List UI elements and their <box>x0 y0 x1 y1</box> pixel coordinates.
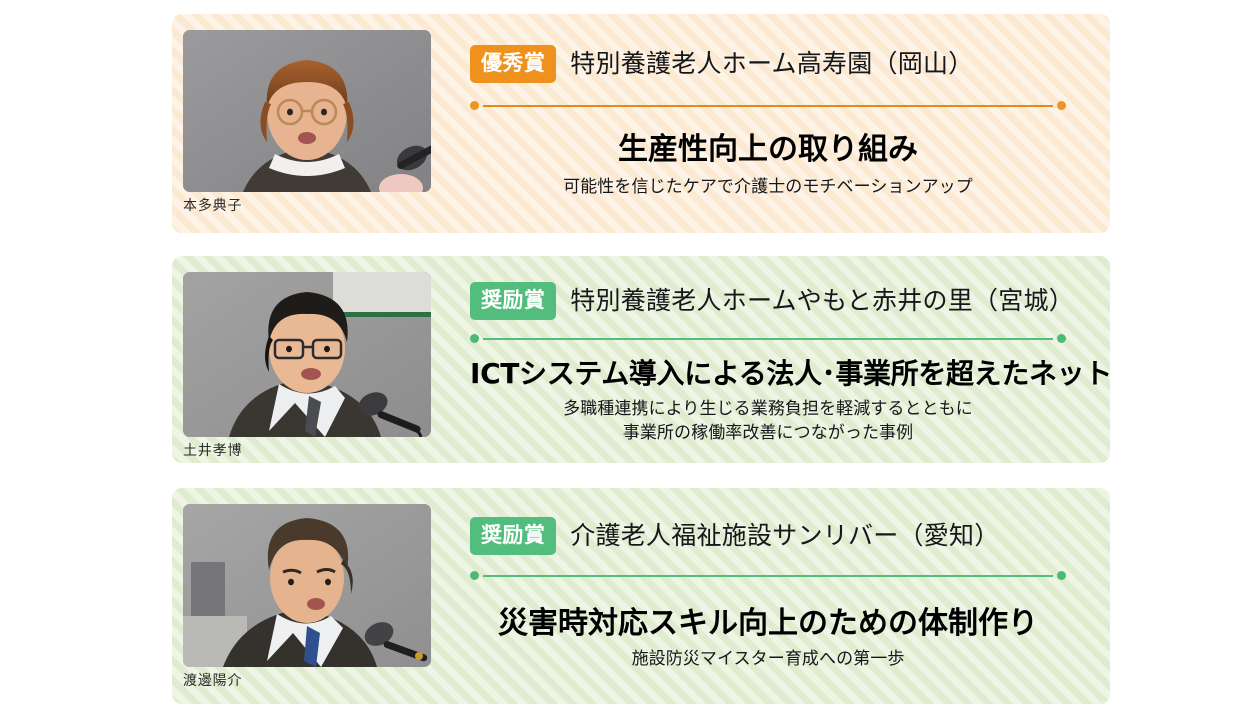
section-divider <box>470 101 1066 110</box>
project-title: ICTシステム導入による法人･事業所を超えたネットワークの構築 <box>470 357 1066 391</box>
award-card[interactable]: 渡邊陽介 奨励賞 介護老人福祉施設サンリバー（愛知） 災害時対応スキル向上のため… <box>172 488 1110 704</box>
award-title-row: 奨励賞 介護老人福祉施設サンリバー（愛知） <box>470 488 1066 555</box>
facility-name: 特別養護老人ホーム高寿園（岡山） <box>570 50 973 79</box>
speaker-photo <box>183 30 431 192</box>
award-content: 優秀賞 特別養護老人ホーム高寿園（岡山） 生産性向上の取り組み 可能性を信じたケ… <box>470 14 1066 233</box>
speaker-photo <box>183 272 431 437</box>
divider-rule <box>483 338 1053 340</box>
speaker-name: 本多典子 <box>183 197 431 216</box>
facility-name: 特別養護老人ホームやもと赤井の里（宮城） <box>570 287 1074 316</box>
speaker-name: 土井孝博 <box>183 442 431 461</box>
project-subtitle: 施設防災マイスター育成への第一歩 <box>470 647 1066 671</box>
speaker-photo-block: 本多典子 <box>183 30 431 216</box>
award-content: 奨励賞 特別養護老人ホームやもと赤井の里（宮城） ICTシステム導入による法人･… <box>470 256 1066 463</box>
speaker-photo-block: 土井孝博 <box>183 272 431 461</box>
divider-rule <box>483 575 1053 577</box>
award-title-row: 奨励賞 特別養護老人ホームやもと赤井の里（宮城） <box>470 256 1066 320</box>
award-list-page: 本多典子 優秀賞 特別養護老人ホーム高寿園（岡山） 生産性向上の取り組み 可能性… <box>0 0 1257 718</box>
speaker-photo <box>183 504 431 667</box>
award-content: 奨励賞 介護老人福祉施設サンリバー（愛知） 災害時対応スキル向上のための体制作り… <box>470 488 1066 704</box>
award-badge: 奨励賞 <box>470 517 556 555</box>
divider-dot-right-icon <box>1057 101 1066 110</box>
divider-dot-left-icon <box>470 334 479 343</box>
award-card[interactable]: 土井孝博 奨励賞 特別養護老人ホームやもと赤井の里（宮城） ICTシステム導入に… <box>172 256 1110 463</box>
award-badge: 奨励賞 <box>470 282 556 320</box>
speaker-name: 渡邊陽介 <box>183 672 431 691</box>
project-title: 災害時対応スキル向上のための体制作り <box>470 606 1066 642</box>
project-subtitle: 多職種連携により生じる業務負担を軽減するとともに事業所の稼働率改善につながった事… <box>470 397 1066 445</box>
divider-dot-right-icon <box>1057 334 1066 343</box>
project-title: 生産性向上の取り組み <box>470 132 1066 168</box>
award-card[interactable]: 本多典子 優秀賞 特別養護老人ホーム高寿園（岡山） 生産性向上の取り組み 可能性… <box>172 14 1110 233</box>
divider-dot-left-icon <box>470 571 479 580</box>
facility-name: 介護老人福祉施設サンリバー（愛知） <box>570 522 999 551</box>
award-title-row: 優秀賞 特別養護老人ホーム高寿園（岡山） <box>470 14 1066 83</box>
award-badge: 優秀賞 <box>470 45 556 83</box>
speaker-photo-block: 渡邊陽介 <box>183 504 431 691</box>
project-subtitle: 可能性を信じたケアで介護士のモチベーションアップ <box>470 175 1066 199</box>
section-divider <box>470 334 1066 343</box>
divider-dot-left-icon <box>470 101 479 110</box>
divider-dot-right-icon <box>1057 571 1066 580</box>
divider-rule <box>483 105 1053 107</box>
section-divider <box>470 571 1066 580</box>
